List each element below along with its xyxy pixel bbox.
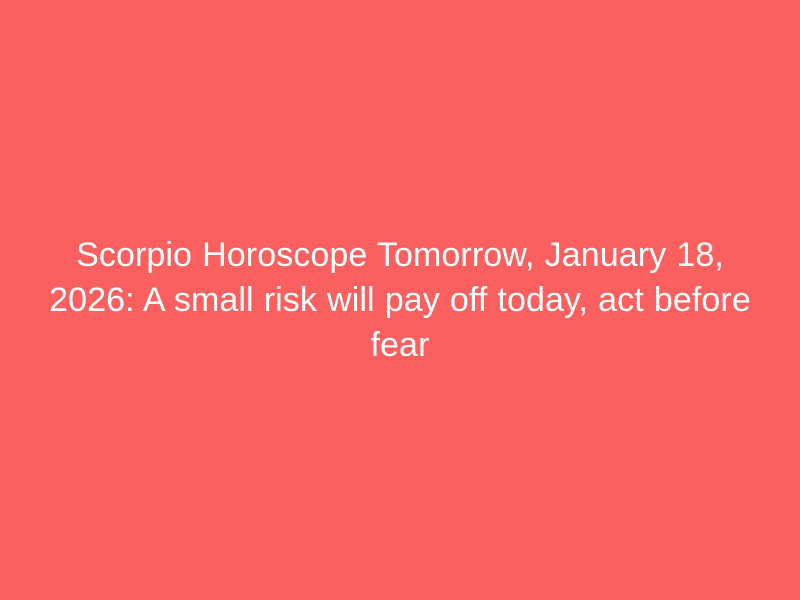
horoscope-headline-card: Scorpio Horoscope Tomorrow, January 18, … bbox=[0, 0, 800, 600]
page-title: Scorpio Horoscope Tomorrow, January 18, … bbox=[40, 233, 760, 368]
headline-block: Scorpio Horoscope Tomorrow, January 18, … bbox=[20, 233, 780, 368]
